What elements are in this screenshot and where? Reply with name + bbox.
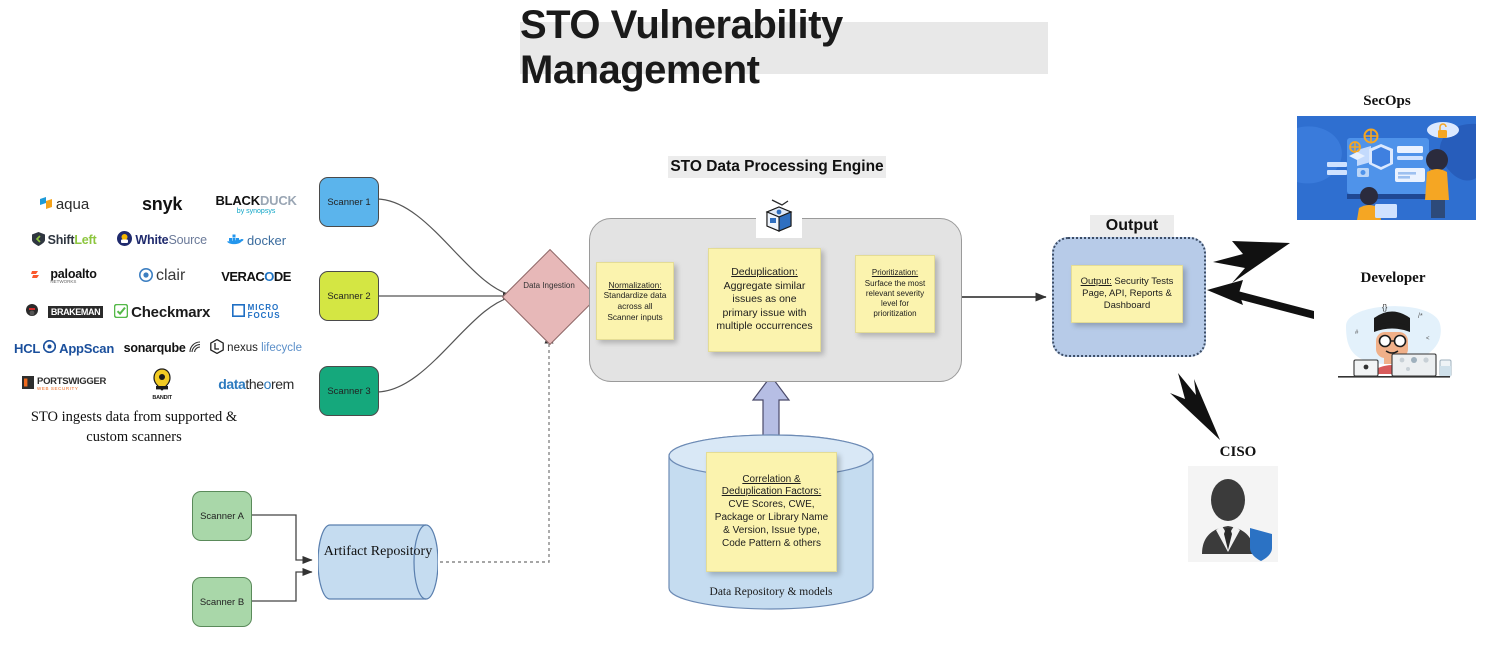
engine-title: STO Data Processing Engine — [668, 156, 886, 178]
artifact-repository-text: Artifact Repository — [318, 543, 438, 561]
logo-label: BRAKEMAN — [48, 306, 103, 318]
hcl-appscan-logo-icon — [43, 340, 56, 356]
arrow-ciso-to-output — [1170, 373, 1220, 440]
data-ingestion-label: Data Ingestion — [512, 281, 586, 292]
portswigger-logo-icon — [22, 376, 34, 392]
shiftleft-logo-icon — [32, 232, 45, 249]
logo-sublabel: WEB SECURITY — [37, 387, 106, 392]
logo-label: docker — [247, 233, 286, 248]
note-heading: Correlation & Deduplication Factors: — [712, 474, 831, 500]
logo-brakeman: BRAKEMAN — [25, 301, 103, 324]
aqua-logo-icon — [39, 196, 53, 213]
note-normalization: Normalization: Standardize data across a… — [596, 262, 674, 340]
docker-logo-icon — [226, 233, 244, 248]
node-scanner-1[interactable]: Scanner 1 — [319, 177, 379, 227]
note-heading: Normalization: — [608, 280, 661, 291]
page-title: STO Vulnerability Management — [520, 22, 1048, 74]
output-title: Output — [1090, 215, 1174, 237]
logo-label: aqua — [56, 196, 89, 213]
note-output: Output: Security Tests Page, API, Report… — [1071, 265, 1183, 323]
arrow-secops-to-output — [1213, 241, 1290, 283]
edge-scannerA-artifact — [250, 515, 312, 560]
svg-text:<: < — [1426, 336, 1430, 342]
node-scanner-2[interactable]: Scanner 2 — [319, 271, 379, 321]
logo-microfocus: MICRO FOCUS — [232, 304, 281, 321]
logo-docker: docker — [226, 233, 286, 248]
bandit-logo-icon — [150, 368, 174, 395]
persona-label-secops: SecOps — [1322, 93, 1452, 110]
logo-label: sonarqube — [124, 341, 186, 355]
note-prioritization: Prioritization: Surface the most relevan… — [855, 255, 935, 333]
edge-artifact-ingestion — [440, 333, 549, 562]
scanner-logo-grid: aqua snyk BLACKDUCK by synopsys ShiftLef… — [14, 186, 272, 402]
edge-scanner3-ingestion — [377, 296, 516, 392]
logo-snyk: snyk — [142, 194, 182, 215]
logo-label: BLACKDUCK — [215, 193, 296, 208]
logo-nexuslifecycle: nexus lifecycle — [210, 339, 302, 357]
persona-label-developer: Developer — [1330, 270, 1456, 287]
ciso-avatar-icon — [1188, 466, 1278, 562]
edge-scannerB-artifact — [250, 572, 312, 601]
brakeman-logo-icon — [25, 301, 45, 324]
scanner-ingest-caption: STO ingests data from supported & custom… — [10, 408, 258, 447]
logo-paloalto: paloalto NETWORKS — [31, 268, 96, 285]
microfocus-logo-icon — [232, 304, 245, 320]
note-body: Surface the most relevant severity level… — [861, 279, 929, 320]
note-body: Aggregate similar issues as one primary … — [714, 280, 815, 334]
persona-label-ciso: CISO — [1196, 444, 1280, 461]
logo-label: clair — [156, 267, 185, 285]
data-repository-label: Data Repository & models — [668, 585, 874, 599]
logo-hclappscan: HCL AppScan — [14, 340, 114, 356]
developer-illustration-icon: {} /* # < — [1322, 296, 1463, 379]
svg-text:/*: /* — [1418, 313, 1423, 320]
artifact-repository-label: Artifact Repository — [318, 543, 438, 561]
logo-label: BANDIT — [152, 395, 172, 401]
logo-portswigger: PORTSWIGGER WEB SECURITY — [22, 376, 106, 392]
arrow-developer-to-output — [1207, 280, 1243, 305]
logo-sonarqube: sonarqube — [124, 341, 201, 356]
sonarqube-logo-icon — [189, 341, 201, 356]
note-heading: Prioritization: — [872, 268, 918, 278]
secops-illustration-icon — [1297, 116, 1476, 220]
node-scanner-3[interactable]: Scanner 3 — [319, 366, 379, 416]
node-artifact-repository[interactable] — [318, 523, 438, 601]
svg-text:{}: {} — [1382, 303, 1388, 312]
arrow-developer-to-output-shaft — [1230, 289, 1314, 319]
checkmarx-logo-icon — [114, 304, 128, 321]
edge-scanner1-ingestion — [377, 199, 516, 296]
logo-sublabel: NETWORKS — [50, 280, 96, 285]
node-scanner-b[interactable]: Scanner B — [192, 577, 252, 627]
note-heading: Output: — [1081, 276, 1112, 287]
note-deduplication: Deduplication: Aggregate similar issues … — [708, 248, 821, 352]
logo-veracode: VERACODE — [221, 269, 291, 284]
clair-logo-icon — [139, 268, 153, 285]
note-correlation-factors: Correlation & Deduplication Factors: CVE… — [706, 452, 837, 572]
logo-clair: clair — [139, 267, 185, 285]
note-heading: Deduplication: — [731, 266, 798, 279]
logo-checkmarx: Checkmarx — [114, 304, 210, 321]
logo-label: snyk — [142, 194, 182, 215]
logo-datatheorem: datatheorem — [218, 376, 294, 392]
node-scanner-a[interactable]: Scanner A — [192, 491, 252, 541]
note-output-text: Output: Security Tests Page, API, Report… — [1077, 276, 1177, 312]
logo-sublabel: by synopsys — [237, 208, 276, 215]
logo-bandit: BANDIT — [150, 368, 174, 401]
node-data-ingestion[interactable] — [502, 249, 598, 345]
logo-aqua: aqua — [39, 196, 89, 213]
note-body: Standardize data across all Scanner inpu… — [602, 290, 668, 322]
whitesource-logo-icon — [117, 231, 132, 249]
logo-shiftleft: ShiftLeft — [32, 232, 97, 249]
paloalto-logo-icon — [31, 269, 47, 284]
note-body: CVE Scores, CWE, Package or Library Name… — [712, 499, 831, 550]
processing-cube-icon — [756, 196, 802, 238]
block-arrow-repository-to-engine — [753, 376, 789, 436]
nexus-lifecycle-logo-icon — [210, 339, 224, 357]
logo-label: Checkmarx — [131, 304, 210, 321]
logo-whitesource: WhiteSource — [117, 231, 206, 249]
logo-blackduck: BLACKDUCK by synopsys — [215, 193, 296, 215]
